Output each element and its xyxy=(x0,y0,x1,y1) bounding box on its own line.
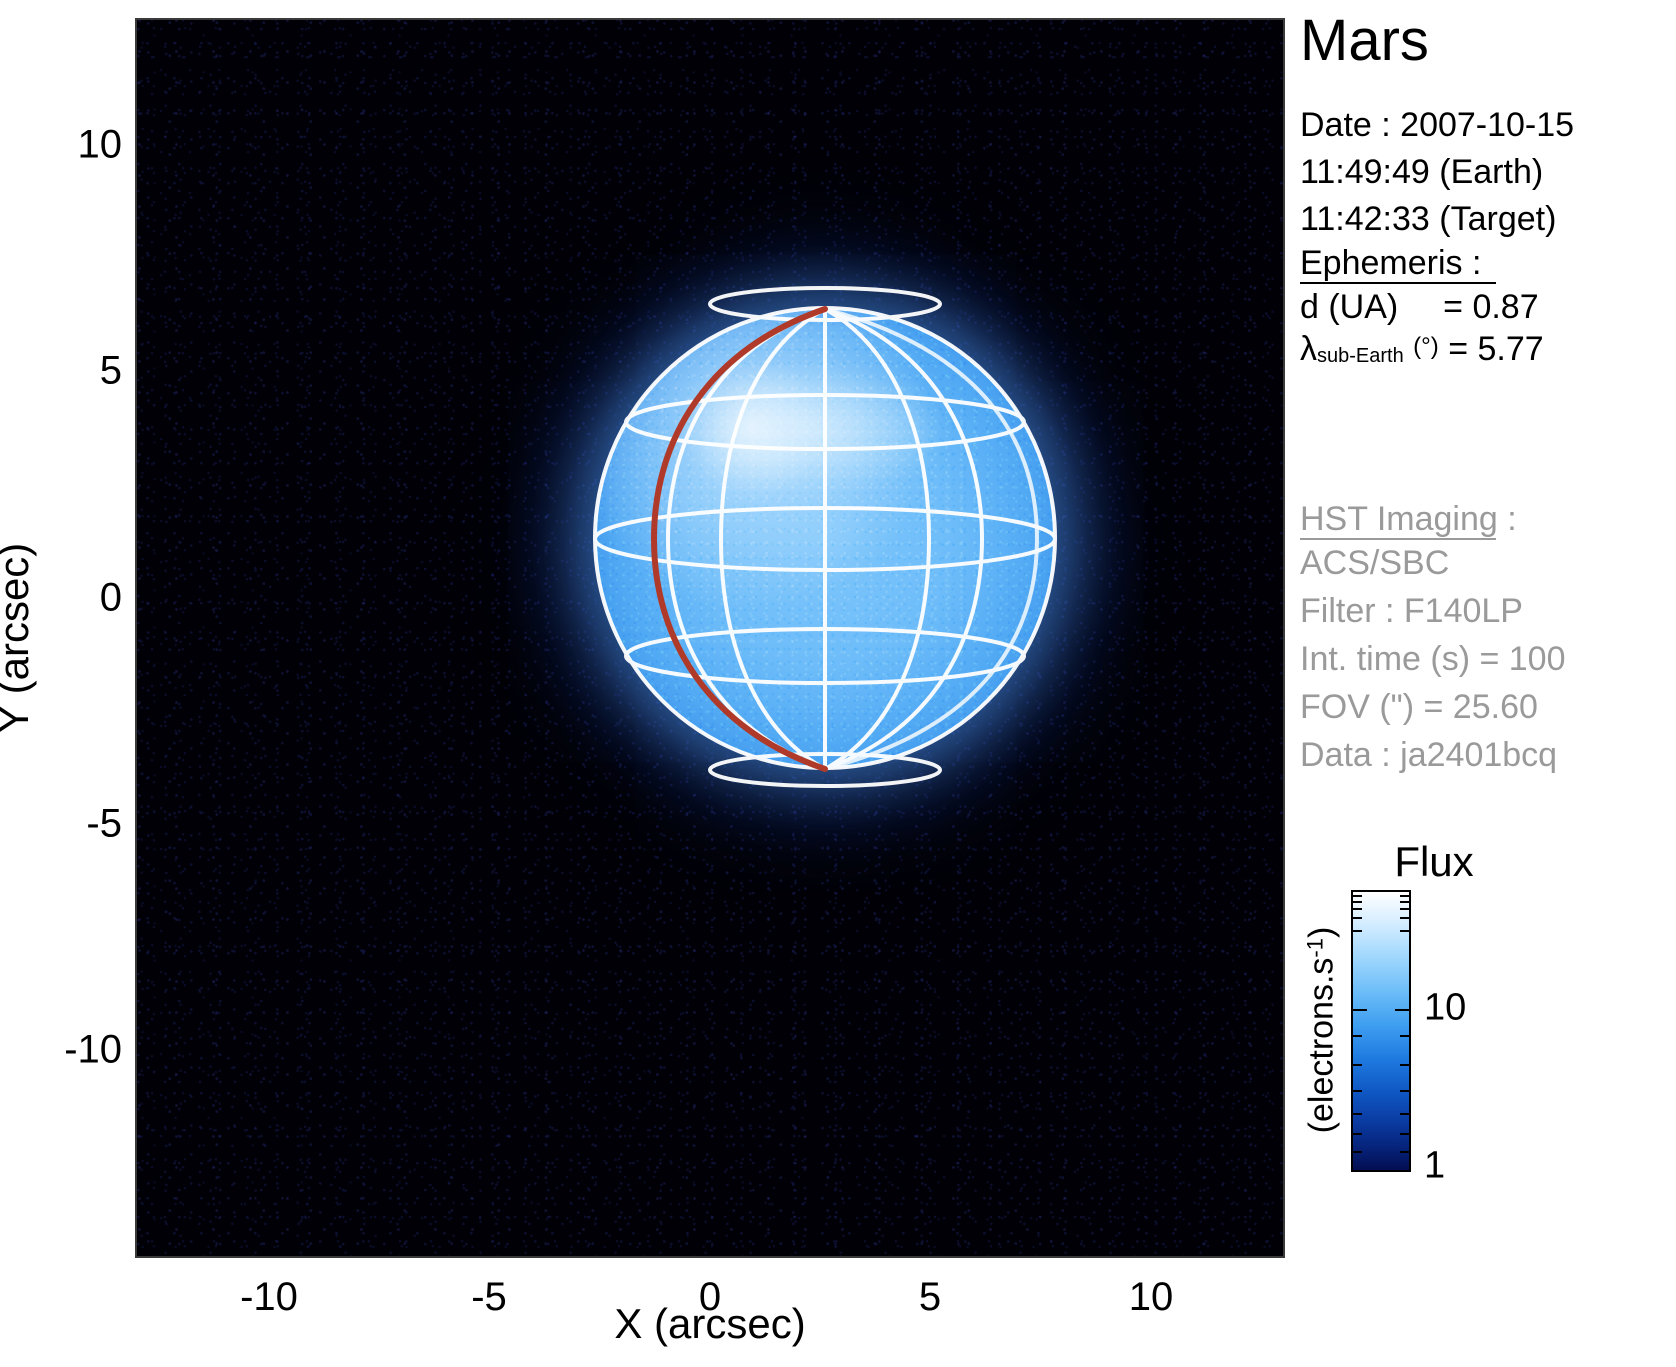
y-axis-title: Y (arcsec) xyxy=(0,543,38,734)
ephemeris-heading: Ephemeris : xyxy=(1300,244,1481,283)
colorbar-units-exponent: -1 xyxy=(1303,938,1328,958)
hst-detector: ACS/SBC xyxy=(1300,546,1449,580)
lambda-value: = 5.77 xyxy=(1448,330,1543,368)
ephemeris-divider xyxy=(1300,282,1496,284)
colorbar-units-text: (electrons.s xyxy=(1303,958,1341,1134)
hst-integration-time: Int. time (s) = 100 xyxy=(1300,642,1566,676)
flux-colorbar xyxy=(1351,890,1411,1172)
x-tick-neg10: -10 xyxy=(240,1275,298,1320)
colorbar-tick-10: 10 xyxy=(1424,987,1466,1030)
lambda-symbol: λ xyxy=(1300,330,1317,368)
hst-fov: FOV (") = 25.60 xyxy=(1300,690,1538,724)
x-axis-title: X (arcsec) xyxy=(614,1300,805,1348)
hst-filter: Filter : F140LP xyxy=(1300,594,1523,628)
mars-image-panel xyxy=(135,18,1285,1258)
lambda-subscript: sub-Earth xyxy=(1317,345,1404,367)
hst-imaging-heading: HST Imaging : xyxy=(1300,500,1517,539)
colorbar-units: (electrons.s-1) xyxy=(1303,927,1342,1134)
observation-date: Date : 2007-10-15 xyxy=(1300,108,1574,142)
colorbar-tick-1: 1 xyxy=(1424,1145,1445,1188)
ephemeris-distance-value: = 0.87 xyxy=(1443,288,1538,326)
hst-imaging-divider xyxy=(1300,538,1496,540)
graticule-overlay xyxy=(135,18,1285,1258)
observation-time-target: 11:42:33 (Target) xyxy=(1300,202,1556,236)
target-title: Mars xyxy=(1300,12,1429,70)
x-tick-neg5: -5 xyxy=(471,1275,507,1320)
observation-time-earth: 11:49:49 (Earth) xyxy=(1300,155,1543,189)
hst-dataset: Data : ja2401bcq xyxy=(1300,738,1557,772)
colorbar-title: Flux xyxy=(1394,838,1473,886)
ephemeris-distance-label: d (UA) xyxy=(1300,288,1398,326)
lambda-unit: (°) xyxy=(1413,333,1439,360)
colorbar-units-close: ) xyxy=(1303,927,1341,938)
x-tick-5: 5 xyxy=(919,1275,941,1320)
ephemeris-sub-earth-longitude: λsub-Earth (°) = 5.77 xyxy=(1300,330,1544,369)
ephemeris-distance: d (UA) = 0.87 xyxy=(1300,288,1539,327)
x-tick-10: 10 xyxy=(1129,1275,1174,1320)
